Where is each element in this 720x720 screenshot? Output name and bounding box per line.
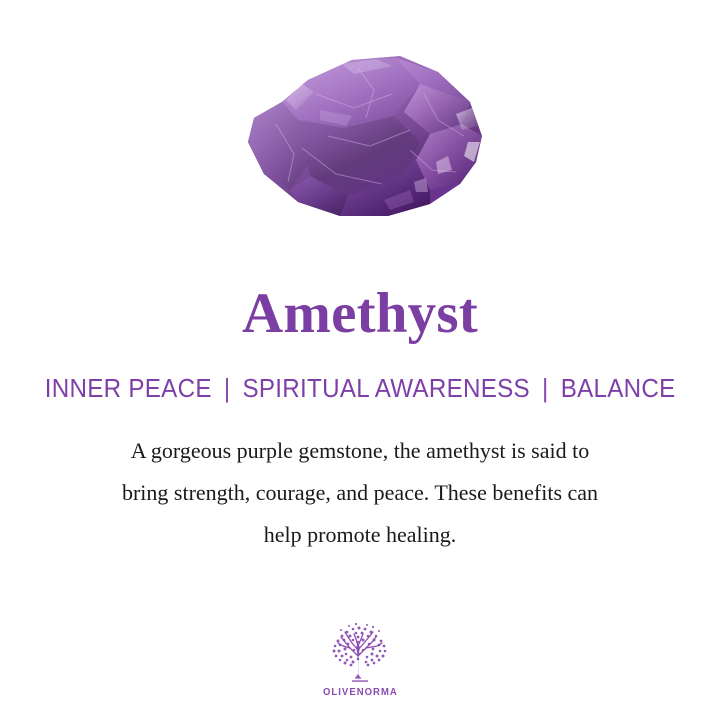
amethyst-crystal-icon <box>224 50 496 240</box>
keyword-strip: INNER PEACE | SPIRITUAL AWARENESS | BALA… <box>45 373 676 404</box>
description-line-2: bring strength, courage, and peace. Thes… <box>40 472 680 514</box>
keyword-spiritual-awareness: SPIRITUAL AWARENESS <box>242 373 529 404</box>
brand-wordmark: OLIVENORMA <box>323 687 398 698</box>
gemstone-image-container <box>0 0 720 285</box>
gemstone-stage <box>224 50 496 240</box>
page-title: Amethyst <box>242 285 478 343</box>
keyword-separator: | <box>530 373 561 404</box>
tree-logo-icon <box>323 622 397 684</box>
keyword-balance: BALANCE <box>561 373 676 404</box>
description-text: A gorgeous purple gemstone, the amethyst… <box>40 430 680 556</box>
brand-logo: OLIVENORMA <box>0 622 720 698</box>
amethyst-info-card: Amethyst INNER PEACE | SPIRITUAL AWARENE… <box>0 0 720 720</box>
description-line-3: help promote healing. <box>40 514 680 556</box>
keyword-inner-peace: INNER PEACE <box>45 373 212 404</box>
gem-sheen <box>248 56 482 216</box>
keyword-separator: | <box>212 373 243 404</box>
description-line-1: A gorgeous purple gemstone, the amethyst… <box>40 430 680 472</box>
